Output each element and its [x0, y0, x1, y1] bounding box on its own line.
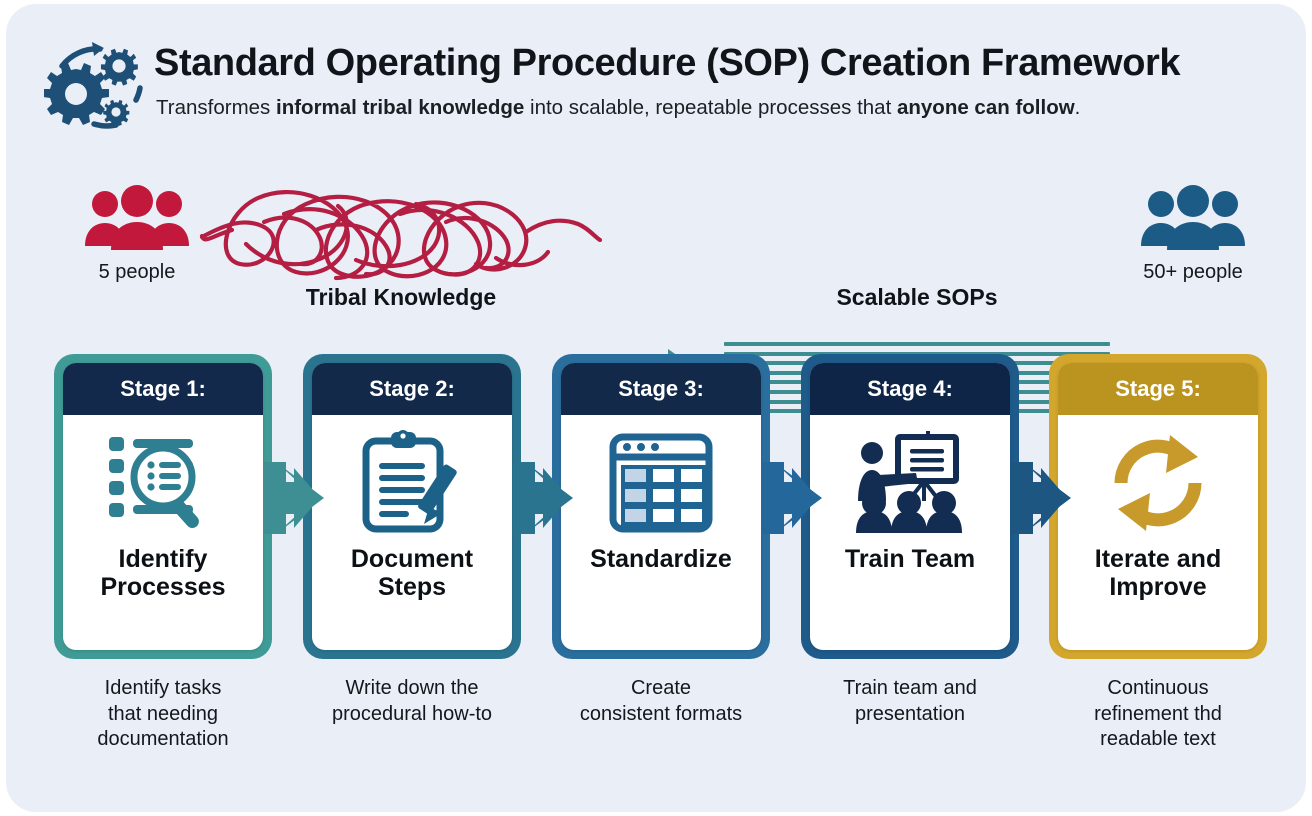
people-group-left: 5 people	[78, 184, 196, 284]
stage-header-2: Stage 2:	[312, 363, 512, 415]
subtitle-fragment: informal tribal knowledge	[276, 96, 524, 119]
stage-body: Standardize	[561, 415, 761, 650]
subtitle-fragment: Transformes	[156, 96, 276, 119]
stage-body: Train Team	[810, 415, 1010, 650]
transformation-row: 5 people Tribal Knowledge	[6, 154, 1306, 329]
people-count-right: 50+ people	[1134, 261, 1252, 284]
stage-caption-4: Train team andpresentation	[785, 676, 1035, 727]
stage-card-inner: Stage 5:Iterate andImprove	[1058, 363, 1258, 650]
stage-card-inner: Stage 1:IdentifyProcesses	[63, 363, 263, 650]
subtitle-fragment: into scalable, repeatable processes that	[524, 96, 897, 119]
stage-card-inner: Stage 4:Train Team	[810, 363, 1010, 650]
connector-3-4	[762, 462, 822, 534]
page-subtitle: Transformes informal tribal knowledge in…	[156, 96, 1080, 120]
stage-caption-2: Write down theprocedural how-to	[287, 676, 537, 727]
people-group-right: 50+ people	[1134, 184, 1252, 284]
subtitle-fragment: anyone can follow	[897, 96, 1075, 119]
stage-card-3[interactable]: Stage 3:Standardize	[552, 354, 770, 659]
page-title: Standard Operating Procedure (SOP) Creat…	[154, 42, 1180, 85]
stage-title-1: IdentifyProcesses	[100, 545, 225, 602]
stage-caption-3: Createconsistent formats	[536, 676, 786, 727]
stage-header-5: Stage 5:	[1058, 363, 1258, 415]
stage-header-4: Stage 4:	[810, 363, 1010, 415]
people-group-icon	[1137, 184, 1249, 252]
infographic-panel: Standard Operating Procedure (SOP) Creat…	[6, 4, 1306, 812]
stage-card-4[interactable]: Stage 4:Train Team	[801, 354, 1019, 659]
clipboard-pencil-icon	[356, 429, 468, 537]
people-count-left: 5 people	[78, 261, 196, 284]
stage-title-3: Standardize	[590, 545, 732, 573]
stage-caption-1: Identify tasksthat needingdocumentation	[38, 676, 288, 753]
stage-header-3: Stage 3:	[561, 363, 761, 415]
stage-title-4: Train Team	[845, 545, 975, 573]
checklist-magnifier-icon	[107, 429, 219, 537]
stage-body: Iterate andImprove	[1058, 415, 1258, 650]
stage-card-inner: Stage 2:DocumentSteps	[312, 363, 512, 650]
presenter-audience-icon	[854, 429, 966, 537]
refresh-cycle-icon	[1102, 429, 1214, 537]
connector-4-5	[1011, 462, 1071, 534]
stage-card-inner: Stage 3:Standardize	[561, 363, 761, 650]
sop-line	[724, 342, 1110, 346]
stage-title-2: DocumentSteps	[351, 545, 473, 602]
connector-2-3	[513, 462, 573, 534]
stage-body: DocumentSteps	[312, 415, 512, 650]
people-group-icon	[81, 184, 193, 252]
stage-body: IdentifyProcesses	[63, 415, 263, 650]
stage-title-5: Iterate andImprove	[1095, 545, 1221, 602]
stage-caption-5: Continuousrefinement thdreadable text	[1033, 676, 1283, 753]
stage-card-1[interactable]: Stage 1:IdentifyProcesses	[54, 354, 272, 659]
scalable-sops-label: Scalable SOPs	[724, 284, 1110, 311]
tribal-knowledge-label: Tribal Knowledge	[196, 284, 606, 311]
header: Standard Operating Procedure (SOP) Creat…	[36, 26, 1276, 136]
stage-card-2[interactable]: Stage 2:DocumentSteps	[303, 354, 521, 659]
stage-pipeline: Stage 1:IdentifyProcessesIdentify taskst…	[6, 354, 1306, 774]
subtitle-fragment: .	[1075, 96, 1081, 119]
connector-1-2	[264, 462, 324, 534]
stage-card-5[interactable]: Stage 5:Iterate andImprove	[1049, 354, 1267, 659]
table-window-icon	[605, 429, 717, 537]
stage-header-1: Stage 1:	[63, 363, 263, 415]
gears-cycle-icon	[44, 36, 150, 132]
